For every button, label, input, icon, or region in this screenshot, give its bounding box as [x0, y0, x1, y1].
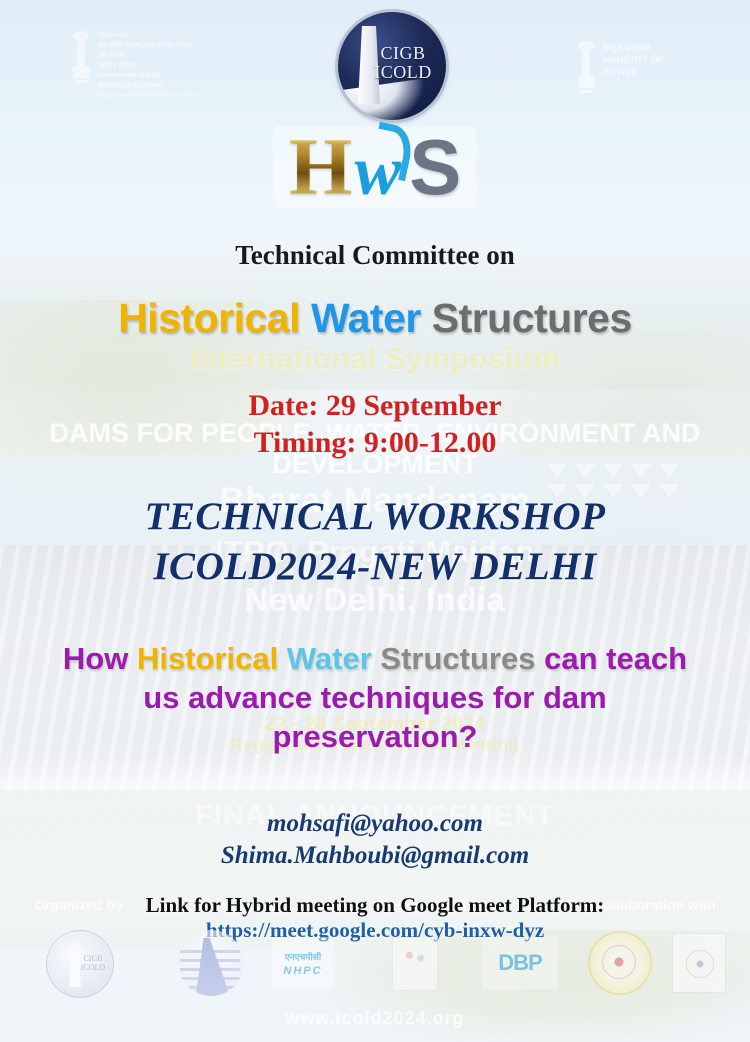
question-word-historical: Historical: [137, 641, 287, 676]
contact-emails: mohsafi@yahoo.com Shima.Mahboubi@gmail.c…: [0, 808, 750, 872]
ministry-of-power-emblem: विद्युत मंत्रालय MINISTRY OF POWER: [575, 38, 715, 96]
ministry-line-2: POWER: [603, 66, 664, 78]
hws-letter-s: S: [409, 130, 461, 204]
background-website-text: www.icold2024.org: [0, 1008, 750, 1029]
ashoka-pillar-icon: [575, 38, 597, 98]
sponsor-dbp-logo: DBP: [482, 937, 558, 989]
icold-logo-text: CIGB ICOLD: [368, 44, 438, 83]
workshop-line-2: ICOLD2024-NEW DELHI: [0, 542, 750, 592]
sponsor-cigb-icold-logo: CIGB ICOLD: [46, 930, 114, 998]
dbp-logo-text: DBP: [498, 950, 541, 976]
question-word-water: Water: [287, 641, 381, 676]
title-part-water: Water: [311, 295, 432, 341]
emblem-line-2: जल शक्ति मंत्रालय, जल संसाधन विभाग: [98, 41, 197, 51]
hws-wordmark-plate: H w S: [273, 126, 478, 208]
question-word-how: How: [63, 641, 137, 676]
committee-line: Technical Committee on: [0, 240, 750, 271]
icold-small-line-2: ICOLD: [78, 964, 108, 973]
icold-logo-base-shape: [343, 79, 428, 120]
title-part-historical: Historical: [118, 295, 311, 341]
nhpc-abbr-text: NHPC: [283, 965, 322, 977]
poster-canvas: International Symposium DAMS FOR PEOPLE,…: [0, 0, 750, 1042]
theme-question-line-3: preservation?: [0, 718, 750, 757]
emblem-line-5: Government of India: [98, 71, 197, 81]
government-emblem-text: भारत सरकार जल शक्ति मंत्रालय, जल संसाधन …: [98, 28, 197, 98]
sponsor-logo-strip: CIGB ICOLD एनएचपीसी NHPC DBP: [0, 925, 750, 1000]
emblem-line-4: एवं गंगा संरक्षण: [98, 61, 197, 71]
nhpc-hindi-text: एनएचपीसी: [285, 950, 322, 963]
ashoka-pillar-icon: [70, 28, 92, 88]
meeting-link-label: Link for Hybrid meeting on Google meet P…: [0, 893, 750, 918]
emblem-line-7: Department of Water Resources: [98, 91, 197, 101]
question-word-can-teach: can teach: [544, 641, 687, 676]
schedule-timing: Timing: 9:00-12.00: [0, 425, 750, 462]
ministry-line-1: MINISTRY OF: [603, 54, 664, 66]
poster-header: भारत सरकार जल शक्ति मंत्रालय, जल संसाधन …: [0, 0, 750, 120]
ministry-of-power-text: विद्युत मंत्रालय MINISTRY OF POWER: [603, 38, 664, 96]
workshop-heading: TECHNICAL WORKSHOP ICOLD2024-NEW DELHI: [0, 492, 750, 592]
hws-letter-h: H: [289, 128, 353, 206]
cigb-icold-logo: CIGB ICOLD: [338, 12, 446, 120]
icold-small-logo-text: CIGB ICOLD: [78, 955, 108, 973]
seal-inner-mark-icon: [602, 945, 636, 979]
title-part-structures: Structures: [432, 295, 632, 341]
theme-question-line-1: How Historical Water Structures can teac…: [0, 640, 750, 679]
contact-email-2[interactable]: Shima.Mahboubi@gmail.com: [0, 840, 750, 872]
schedule-date: Date: 29 September: [0, 388, 750, 425]
government-of-india-emblem: भारत सरकार जल शक्ति मंत्रालय, जल संसाधन …: [70, 28, 230, 98]
page-title: Historical Water Structures: [0, 295, 750, 342]
contact-email-1[interactable]: mohsafi@yahoo.com: [0, 808, 750, 840]
schedule-block: Date: 29 September Timing: 9:00-12.00: [0, 388, 750, 461]
card-inner-mark-icon: [686, 950, 714, 978]
partner-logo-mark-icon: [401, 948, 429, 966]
sponsor-nhpc-logo: एनएचपीसी NHPC: [272, 937, 334, 989]
question-word-structures: Structures: [380, 641, 544, 676]
workshop-line-1: TECHNICAL WORKSHOP: [0, 492, 750, 542]
sponsor-cbip-dam-logo: [178, 930, 244, 996]
icold-logo-line-cigb: CIGB: [368, 44, 438, 63]
emblem-line-3: नदी विकास: [98, 51, 197, 61]
sponsor-seal-logo: [588, 931, 652, 995]
hws-wordmark: H w S: [0, 118, 750, 216]
background-symposium-text: International Symposium: [0, 343, 750, 377]
theme-question-line-2: us advance techniques for dam: [0, 679, 750, 718]
sponsor-card-logo: [672, 933, 726, 993]
sponsor-partner-logo: [392, 937, 438, 991]
ministry-hindi-line: विद्युत मंत्रालय: [603, 42, 664, 54]
hws-letter-w: w: [355, 139, 408, 206]
emblem-line-6: Ministry of Jal Shakti: [98, 81, 197, 91]
icold-logo-line-icold: ICOLD: [368, 63, 438, 82]
emblem-line-1: भारत सरकार: [98, 31, 197, 41]
theme-question: How Historical Water Structures can teac…: [0, 640, 750, 756]
